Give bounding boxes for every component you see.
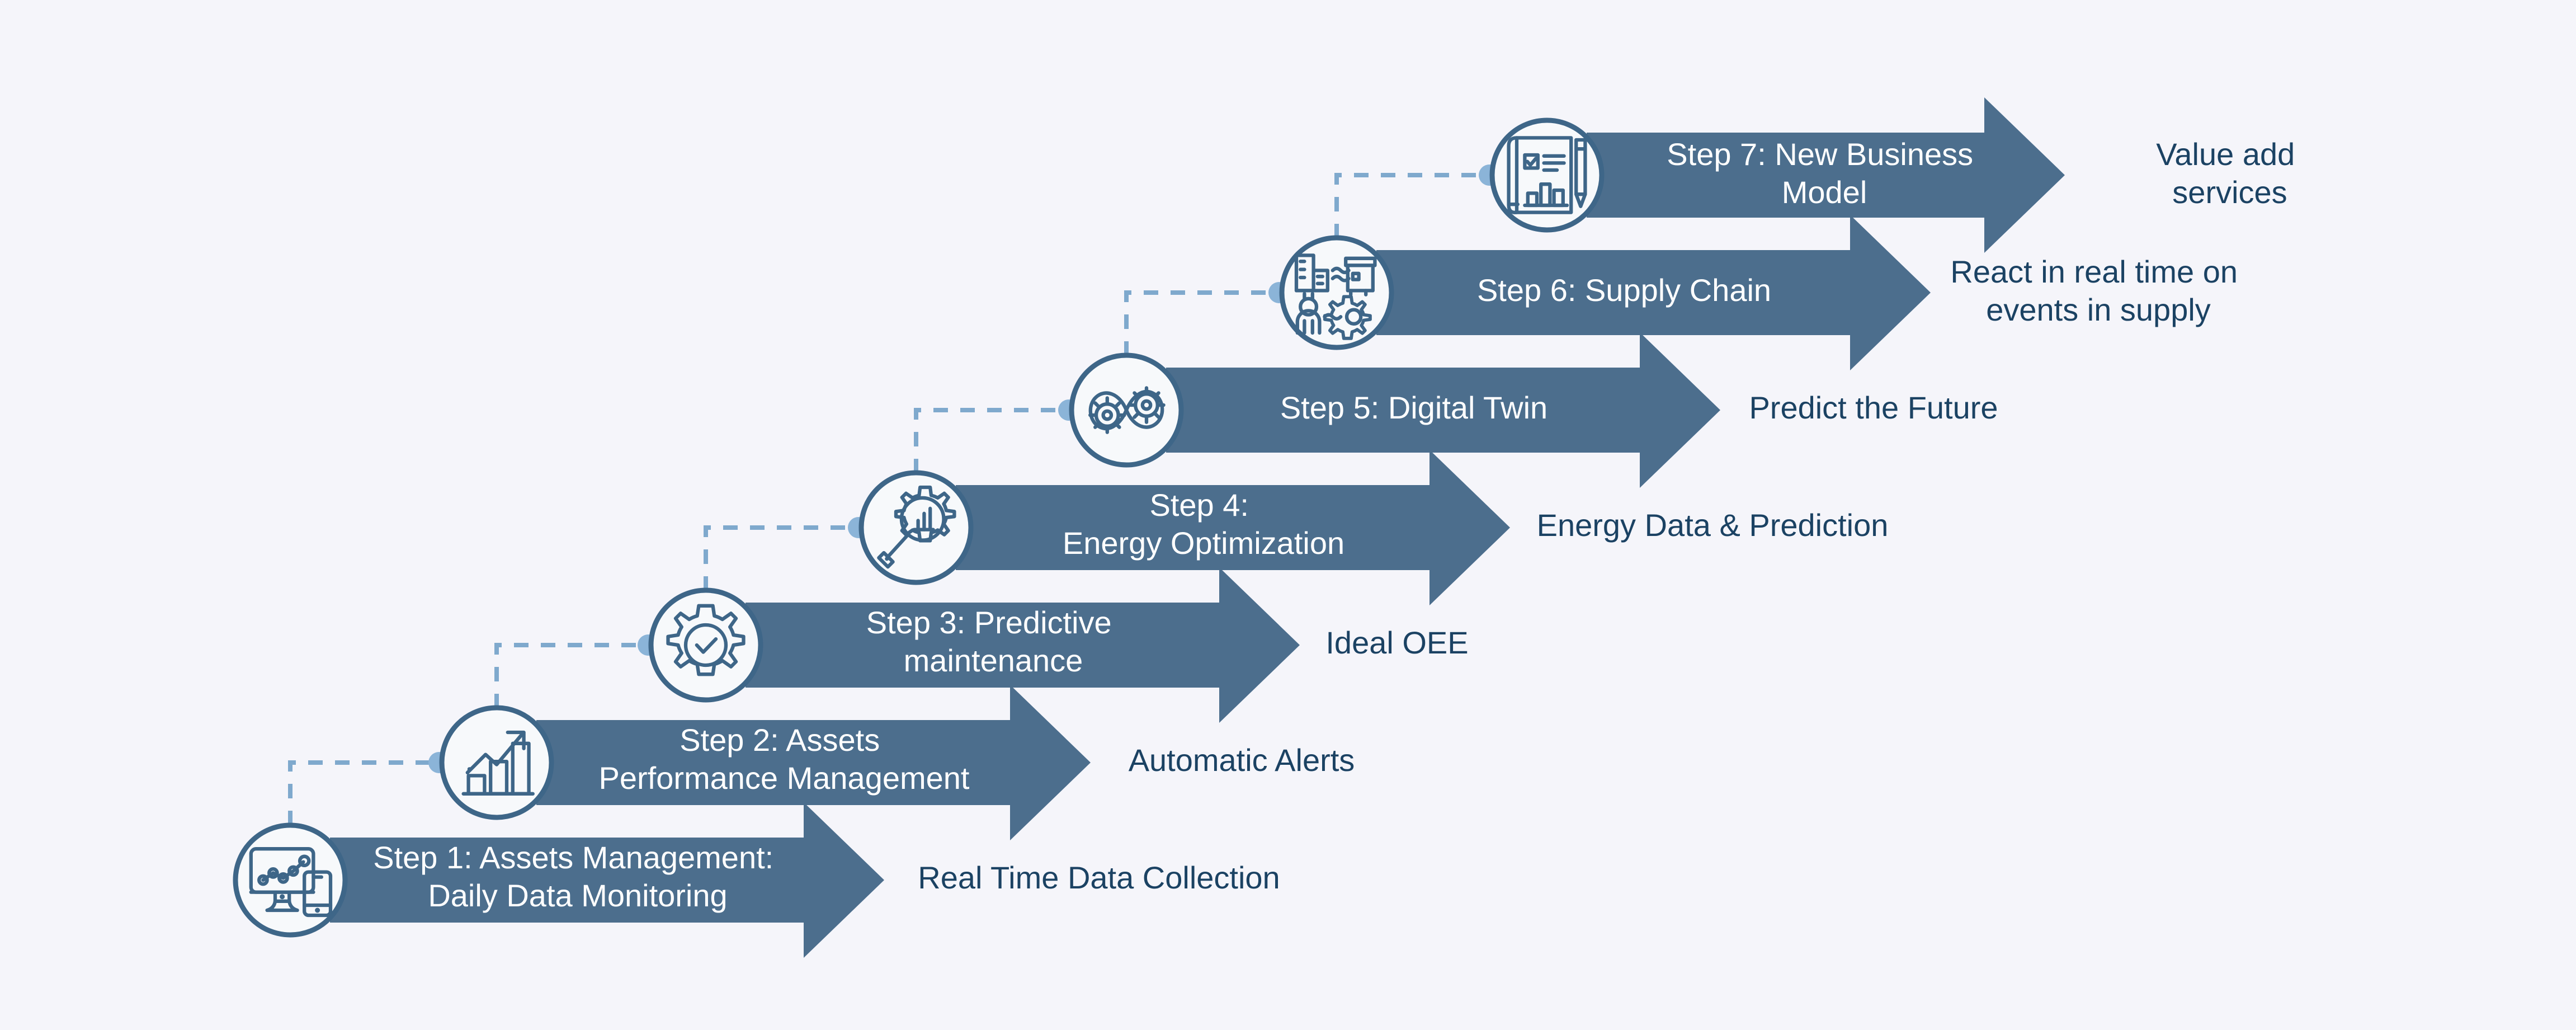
staircase-diagram: Step 1: Assets Management: Daily Data Mo… [0,0,2576,1030]
outcome-label-3: Ideal OEE [1325,625,1468,660]
outcome-label-2: Automatic Alerts [1129,742,1355,778]
diagram-canvas: Step 1: Assets Management: Daily Data Mo… [0,0,2576,1030]
step-label-6: Step 6: Supply Chain [1477,272,1771,308]
outcome-label-5: Predict the Future [1749,390,1998,425]
outcome-label-1: Real Time Data Collection [918,860,1280,895]
step-label-5: Step 5: Digital Twin [1280,390,1548,425]
step-badge-4[interactable] [861,473,971,582]
outcome-label-4: Energy Data & Prediction [1537,507,1889,543]
